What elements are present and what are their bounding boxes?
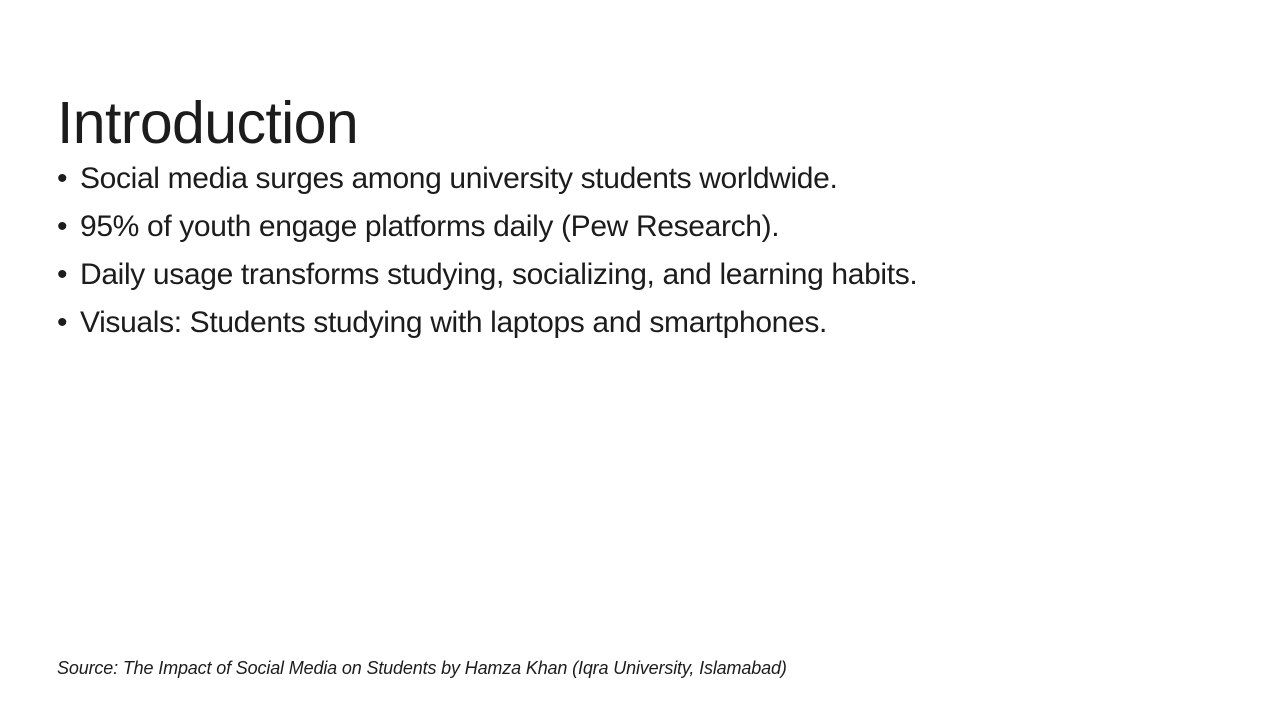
- list-item-label: Social media surges among university stu…: [80, 155, 837, 203]
- source-citation: Source: The Impact of Social Media on St…: [57, 655, 787, 681]
- bullet-point-icon: •: [57, 155, 80, 203]
- bullet-point-icon: •: [57, 251, 80, 299]
- slide-empty-content-area: [57, 350, 1223, 640]
- list-item-label: 95% of youth engage platforms daily (Pew…: [80, 203, 779, 251]
- slide-canvas: Introduction • Social media surges among…: [0, 0, 1280, 720]
- list-item: • Social media surges among university s…: [57, 155, 1187, 203]
- page-title: Introduction: [57, 90, 358, 156]
- list-item: • 95% of youth engage platforms daily (P…: [57, 203, 1187, 251]
- list-item-label: Daily usage transforms studying, sociali…: [80, 251, 917, 299]
- bullet-point-icon: •: [57, 299, 80, 347]
- bullet-list: • Social media surges among university s…: [57, 155, 1187, 347]
- bullet-point-icon: •: [57, 203, 80, 251]
- list-item-label: Visuals: Students studying with laptops …: [80, 299, 827, 347]
- list-item: • Visuals: Students studying with laptop…: [57, 299, 1187, 347]
- list-item: • Daily usage transforms studying, socia…: [57, 251, 1187, 299]
